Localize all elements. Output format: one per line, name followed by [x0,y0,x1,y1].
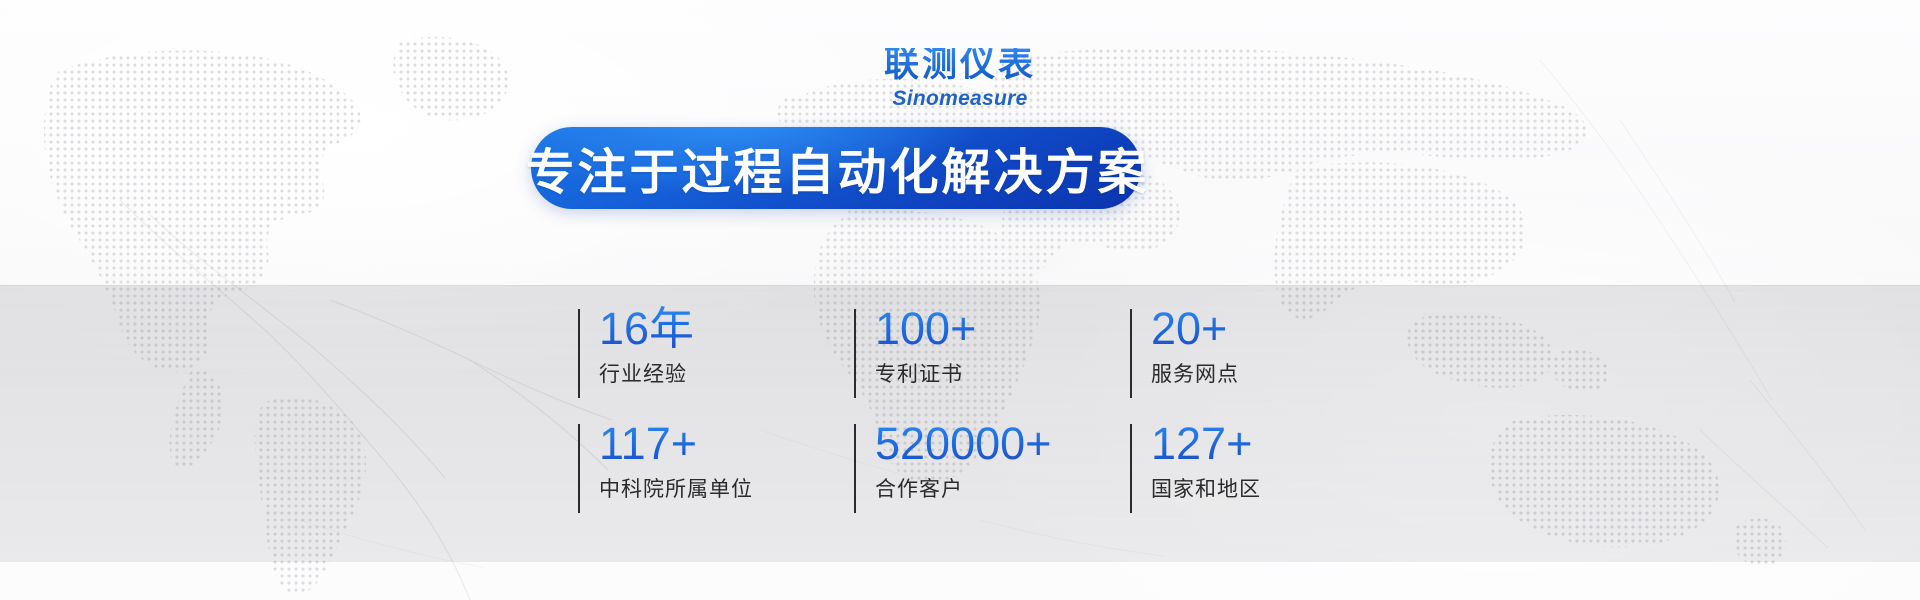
stat-label: 中科院所属单位 [599,473,854,503]
stat-value: 16年 [599,305,854,352]
headline-pill: 专注于过程自动化解决方案 [531,127,1141,209]
stat-item-service-sites: 20+ 服务网点 [1130,305,1330,420]
stat-label: 国家和地区 [1151,473,1330,503]
stat-label: 合作客户 [875,473,1130,503]
stats-grid: 16年 行业经验 100+ 专利证书 20+ 服务网点 117+ 中科院所属单位… [578,305,1330,535]
stat-value: 20+ [1151,305,1330,352]
stat-item-years-experience: 16年 行业经验 [578,305,854,420]
stat-item-countries: 127+ 国家和地区 [1130,420,1330,535]
stat-item-cas-units: 117+ 中科院所属单位 [578,420,854,535]
stat-value: 100+ [875,305,1130,352]
stat-label: 行业经验 [599,358,854,388]
stat-value: 127+ [1151,420,1330,467]
stat-value: 520000+ [875,420,1130,467]
stat-item-customers: 520000+ 合作客户 [854,420,1130,535]
stat-value: 117+ [599,420,854,467]
stat-label: 专利证书 [875,358,1130,388]
stat-item-patents: 100+ 专利证书 [854,305,1130,420]
promo-banner: 联测仪表 Sinomeasure 专注于过程自动化解决方案 16年 行业经验 1… [0,0,1920,600]
brand-logo-en: Sinomeasure [0,88,1920,109]
headline-text: 专注于过程自动化解决方案 [523,133,1150,204]
brand-logo: 联测仪表 Sinomeasure [0,48,1920,109]
brand-logo-cn: 联测仪表 [884,48,1036,83]
stat-label: 服务网点 [1151,358,1330,388]
